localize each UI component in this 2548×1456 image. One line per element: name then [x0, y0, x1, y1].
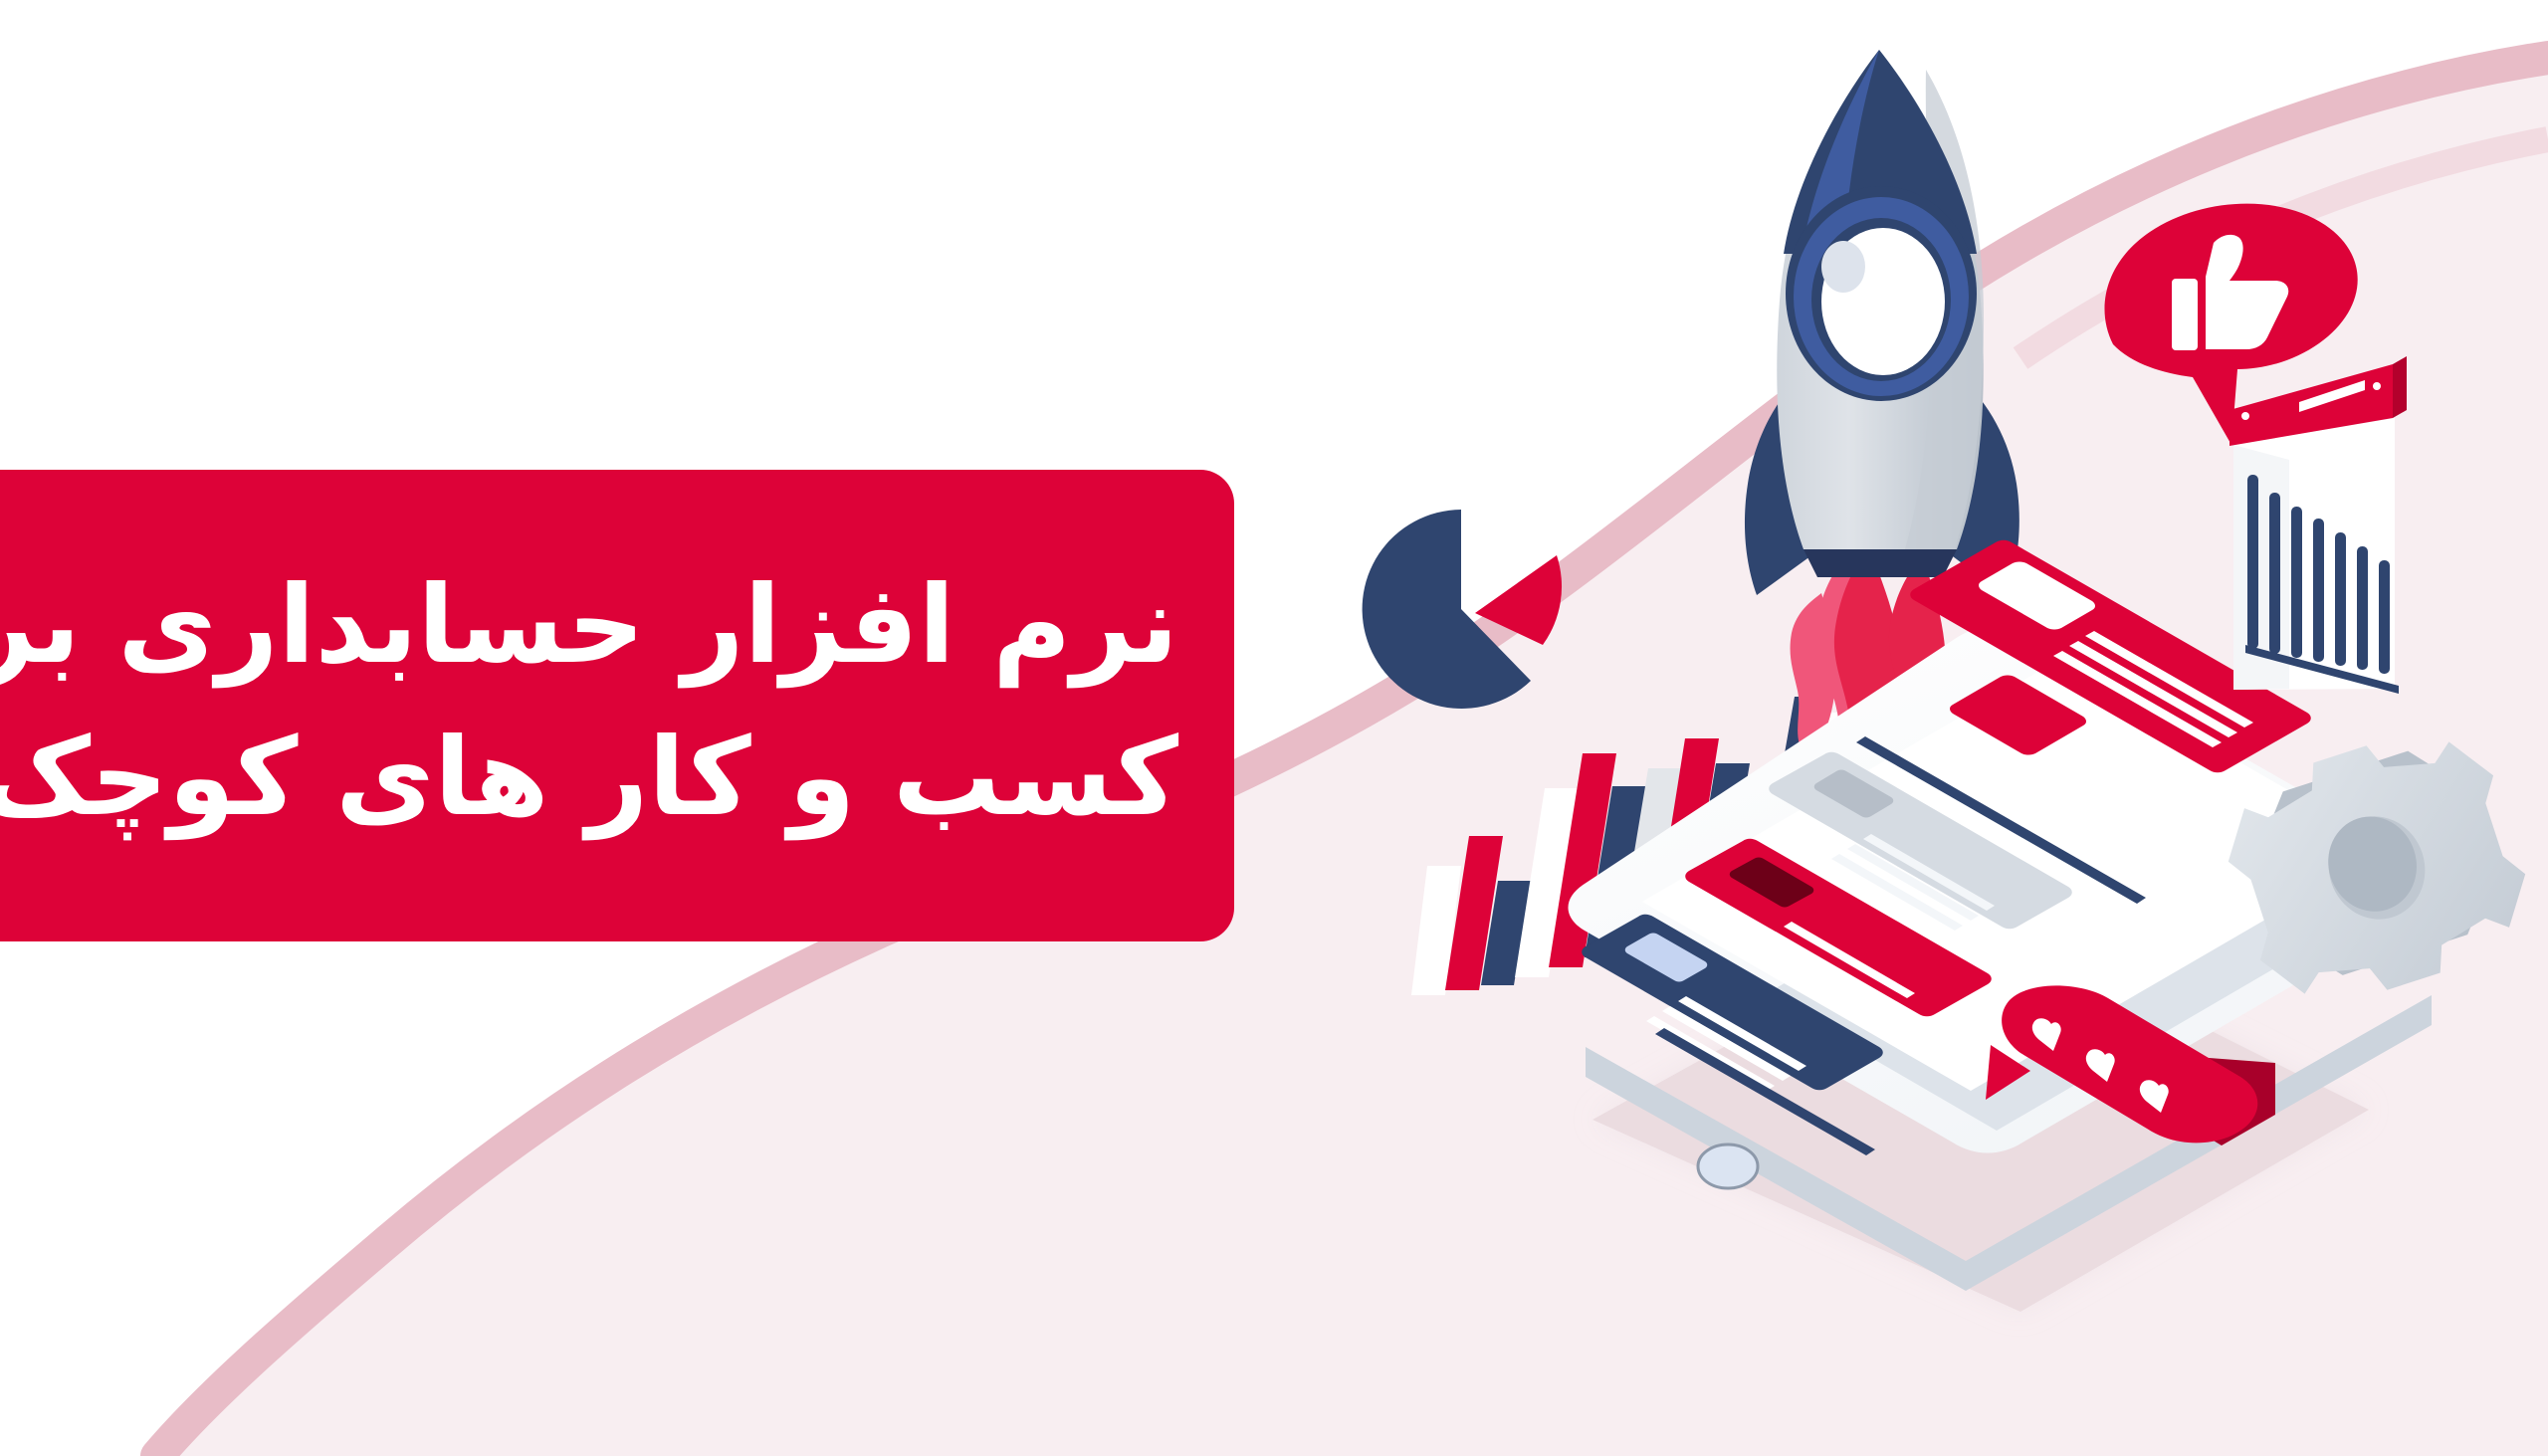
headline-line-1: نرم افزار حسابداری برای — [0, 549, 1178, 702]
rocket-nozzle — [1804, 549, 1957, 577]
phone-home-button — [1698, 1144, 1758, 1188]
headline-card: نرم افزار حسابداری برای کسب و کار های کو… — [0, 470, 1234, 941]
calendar-hole — [2241, 412, 2249, 420]
calendar-hole — [2373, 382, 2381, 390]
calendar-header-side — [2393, 356, 2407, 418]
calendar-chart-card — [2229, 356, 2407, 694]
pie-chart — [1363, 502, 1562, 709]
rocket-porthole-glare — [1821, 241, 1865, 293]
headline-line-2: کسب و کار های کوچک — [0, 702, 1178, 854]
banner-canvas: نرم افزار حسابداری برای کسب و کار های کو… — [0, 0, 2548, 1456]
thumb-base — [2172, 279, 2198, 350]
